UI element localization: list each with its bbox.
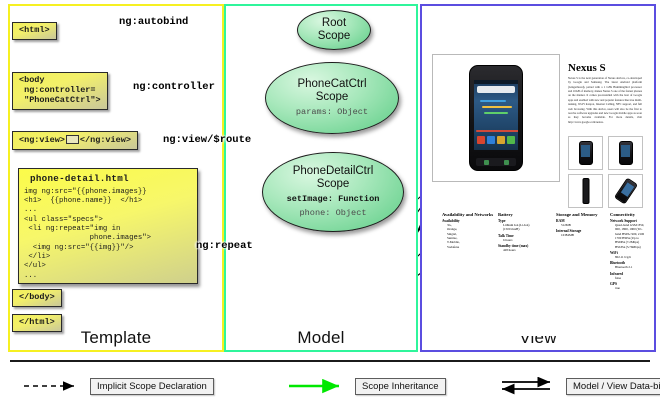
thumbnail-3[interactable] — [568, 174, 603, 208]
scope-phonedetail-prop-phone: phone: Object — [299, 208, 366, 219]
thumb-phone-icon-2 — [619, 141, 633, 165]
spec-val-3-0-5: HSUPA (5.76Mbps) — [615, 245, 644, 249]
thumb-screen-4 — [620, 182, 633, 196]
spec-val-3-2-0: Bluetooth 2.1 — [615, 265, 644, 269]
diagram-canvas: Template Model View <html> <body ng:cont… — [0, 0, 660, 420]
detail-code-body: img ng:src="{{phone.images}} <h1> {{phon… — [24, 188, 151, 280]
phone-stripe-yellow — [482, 106, 512, 108]
thumb-screen-1 — [581, 145, 590, 157]
label-ng-view-route: ng:view/$route — [163, 134, 251, 146]
scope-phonecatctrl: PhoneCatCtrl Scope params: Object — [265, 62, 399, 134]
phone-app-icons — [477, 136, 515, 146]
spec-header-0: Availability and Networks — [442, 212, 494, 217]
spec-val-1-1-0: 6 hours — [503, 238, 554, 242]
phone-stripe-blue — [480, 100, 506, 102]
code-box-html-tag: <html> — [12, 22, 57, 40]
legend-item-scope-inheritance: Scope Inheritance — [287, 377, 446, 395]
green-arrow-icon — [287, 377, 349, 395]
spec-val-3-4-0: true — [615, 286, 644, 290]
scope-phonedetailctrl: PhoneDetailCtrl Scope setImage: Function… — [262, 152, 404, 232]
ngview-open-tag: <ng:view> — [19, 135, 65, 145]
spec-header-1: Battery — [498, 212, 554, 217]
code-box-close-body: </body> — [12, 289, 62, 307]
app-icon-1 — [477, 136, 485, 144]
code-box-close-html: </html> — [12, 314, 62, 332]
scope-root: Root Scope — [297, 10, 371, 50]
spec-column-battery: Battery Type Lithium Ion (Li-Ion) (1500 … — [498, 212, 554, 252]
label-ng-autobind: ng:autobind — [119, 16, 188, 28]
scope-phonedetail-prop-setimage: setImage: Function — [287, 194, 380, 205]
spec-column-connectivity: Connectivity Network Support Quad-band G… — [610, 212, 644, 290]
app-icon-2 — [487, 136, 495, 144]
spec-val-3-1-0: 802.11 b/g/n — [615, 255, 644, 259]
scope-root-name-2: Scope — [318, 30, 351, 43]
scope-phonecat-prop-params: params: Object — [296, 107, 368, 118]
spec-val-0-0-5: Vodafone — [447, 245, 494, 249]
spec-header-2: Storage and Memory — [556, 212, 612, 217]
phone-statusbar — [474, 80, 518, 84]
spec-val-3-0-1: 900, 1800, 1900 (Tri- — [615, 227, 644, 231]
spec-column-availability: Availability and Networks Availability 3… — [442, 212, 494, 249]
detail-file-name: phone-detail.html — [30, 173, 193, 185]
legend-label-data-binding: Model / View Data-binding — [566, 378, 660, 395]
legend-divider — [10, 360, 650, 362]
spec-val-1-0-1: (1500 mAH) — [503, 227, 554, 231]
thumb-phone-icon-1 — [579, 141, 593, 165]
soft-key-1 — [484, 160, 489, 165]
phone-screen — [474, 80, 518, 150]
legend-item-implicit-scope: Implicit Scope Declaration — [22, 377, 214, 395]
phone-searchbar — [477, 86, 515, 93]
product-description: Nexus S is the next generation of Nexus … — [568, 76, 642, 124]
legend-label-implicit-scope: Implicit Scope Declaration — [90, 378, 214, 395]
thumbnail-4[interactable] — [608, 174, 643, 208]
panel-title-model: Model — [226, 328, 416, 348]
legend-item-data-binding: Model / View Data-binding — [498, 377, 660, 395]
label-ng-repeat: ng:repeat — [196, 240, 253, 252]
spec-val-1-2-0: 428 hours — [503, 248, 554, 252]
thumbnail-2[interactable] — [608, 136, 643, 170]
scope-root-name-1: Root — [322, 17, 346, 30]
ngview-close-tag: </ng:view> — [80, 135, 131, 145]
ngview-slot-icon — [66, 135, 79, 144]
thumb-phone-icon-4 — [613, 177, 637, 204]
soft-key-2 — [504, 160, 509, 165]
phone-soft-keys — [476, 158, 516, 166]
label-ng-controller: ng:controller — [133, 81, 215, 93]
legend-label-scope-inheritance: Scope Inheritance — [355, 378, 446, 395]
code-box-body-tag: <body ng:controller= "PhoneCatCtrl"> — [12, 72, 108, 110]
rendered-app-view: Nexus S Nexus S is the next generation o… — [428, 14, 644, 336]
phone-stripe-red — [476, 130, 518, 132]
dashed-arrow-icon — [22, 377, 84, 395]
phone-hero-image-frame — [432, 54, 560, 182]
scope-phonedetail-name-1: PhoneDetailCtrl — [293, 165, 374, 178]
spec-header-3: Connectivity — [610, 212, 644, 217]
spec-val-2-1-0: 16384MB — [561, 233, 612, 237]
phone-stripe-green — [484, 112, 508, 114]
spec-column-storage: Storage and Memory RAM 512MB Internal St… — [556, 212, 612, 238]
scope-phonecat-name-2: Scope — [316, 91, 349, 104]
scope-phonedetail-name-2: Scope — [317, 178, 350, 191]
double-arrow-icon — [498, 377, 560, 395]
scope-phonecat-name-1: PhoneCatCtrl — [297, 78, 366, 91]
thumb-phone-icon-3 — [582, 178, 589, 204]
app-icon-3 — [497, 136, 505, 144]
thumb-screen-2 — [621, 145, 630, 157]
spec-val-3-3-0: false — [615, 276, 644, 280]
spec-val-2-0-0: 512MB — [561, 223, 612, 227]
phone-device-image — [469, 65, 523, 171]
thumbnail-1[interactable] — [568, 136, 603, 170]
code-box-ngview: <ng:view></ng:view> — [12, 131, 138, 150]
app-icon-4 — [507, 136, 515, 144]
code-box-phone-detail: phone-detail.htmlimg ng:src="{{phone.ima… — [18, 168, 198, 284]
product-title: Nexus S — [568, 62, 606, 74]
